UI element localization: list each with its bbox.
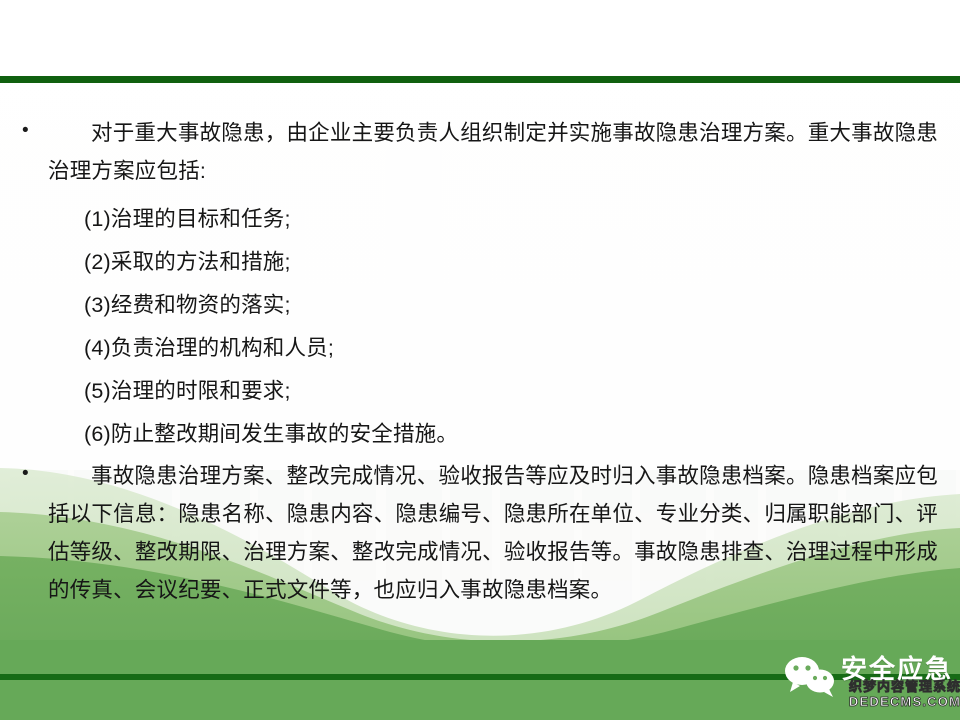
- bullet-dot-icon: •: [22, 114, 48, 148]
- list-item: (3)经费和物资的落实;: [84, 284, 924, 327]
- list-item: (6)防止整改期间发生事故的安全措施。: [84, 413, 924, 456]
- bullet-2-text: 事故隐患治理方案、整改完成情况、验收报告等应及时归入事故隐患档案。隐患档案应包括…: [48, 457, 938, 609]
- dedecms-watermark: 织梦内容管理系统 DEDECMS.COM: [845, 680, 960, 709]
- bullet-item-2: • 事故隐患治理方案、整改完成情况、验收报告等应及时归入事故隐患档案。隐患档案应…: [22, 457, 940, 609]
- bullet-dot-icon: •: [22, 457, 48, 491]
- numbered-list: (1)治理的目标和任务; (2)采取的方法和措施; (3)经费和物资的落实; (…: [84, 198, 924, 456]
- watermark-domain-text: DEDECMS.COM: [845, 694, 960, 709]
- slide-body-content: • 对于重大事故隐患，由企业主要负责人组织制定并实施事故隐患治理方案。重大事故隐…: [0, 0, 960, 720]
- watermark-chinese-text: 织梦内容管理系统: [845, 680, 960, 694]
- bullet-1-text: 对于重大事故隐患，由企业主要负责人组织制定并实施事故隐患治理方案。重大事故隐患治…: [48, 114, 938, 190]
- brand-logo: 安全应急 织梦内容管理系统 DEDECMS.COM: [783, 648, 960, 708]
- list-item: (4)负责治理的机构和人员;: [84, 327, 924, 370]
- slide-canvas: • 对于重大事故隐患，由企业主要负责人组织制定并实施事故隐患治理方案。重大事故隐…: [0, 0, 960, 720]
- list-item: (1)治理的目标和任务;: [84, 198, 924, 241]
- bullet-item-1: • 对于重大事故隐患，由企业主要负责人组织制定并实施事故隐患治理方案。重大事故隐…: [22, 114, 940, 190]
- list-item: (5)治理的时限和要求;: [84, 370, 924, 413]
- wechat-icon: [783, 655, 837, 697]
- list-item: (2)采取的方法和措施;: [84, 241, 924, 284]
